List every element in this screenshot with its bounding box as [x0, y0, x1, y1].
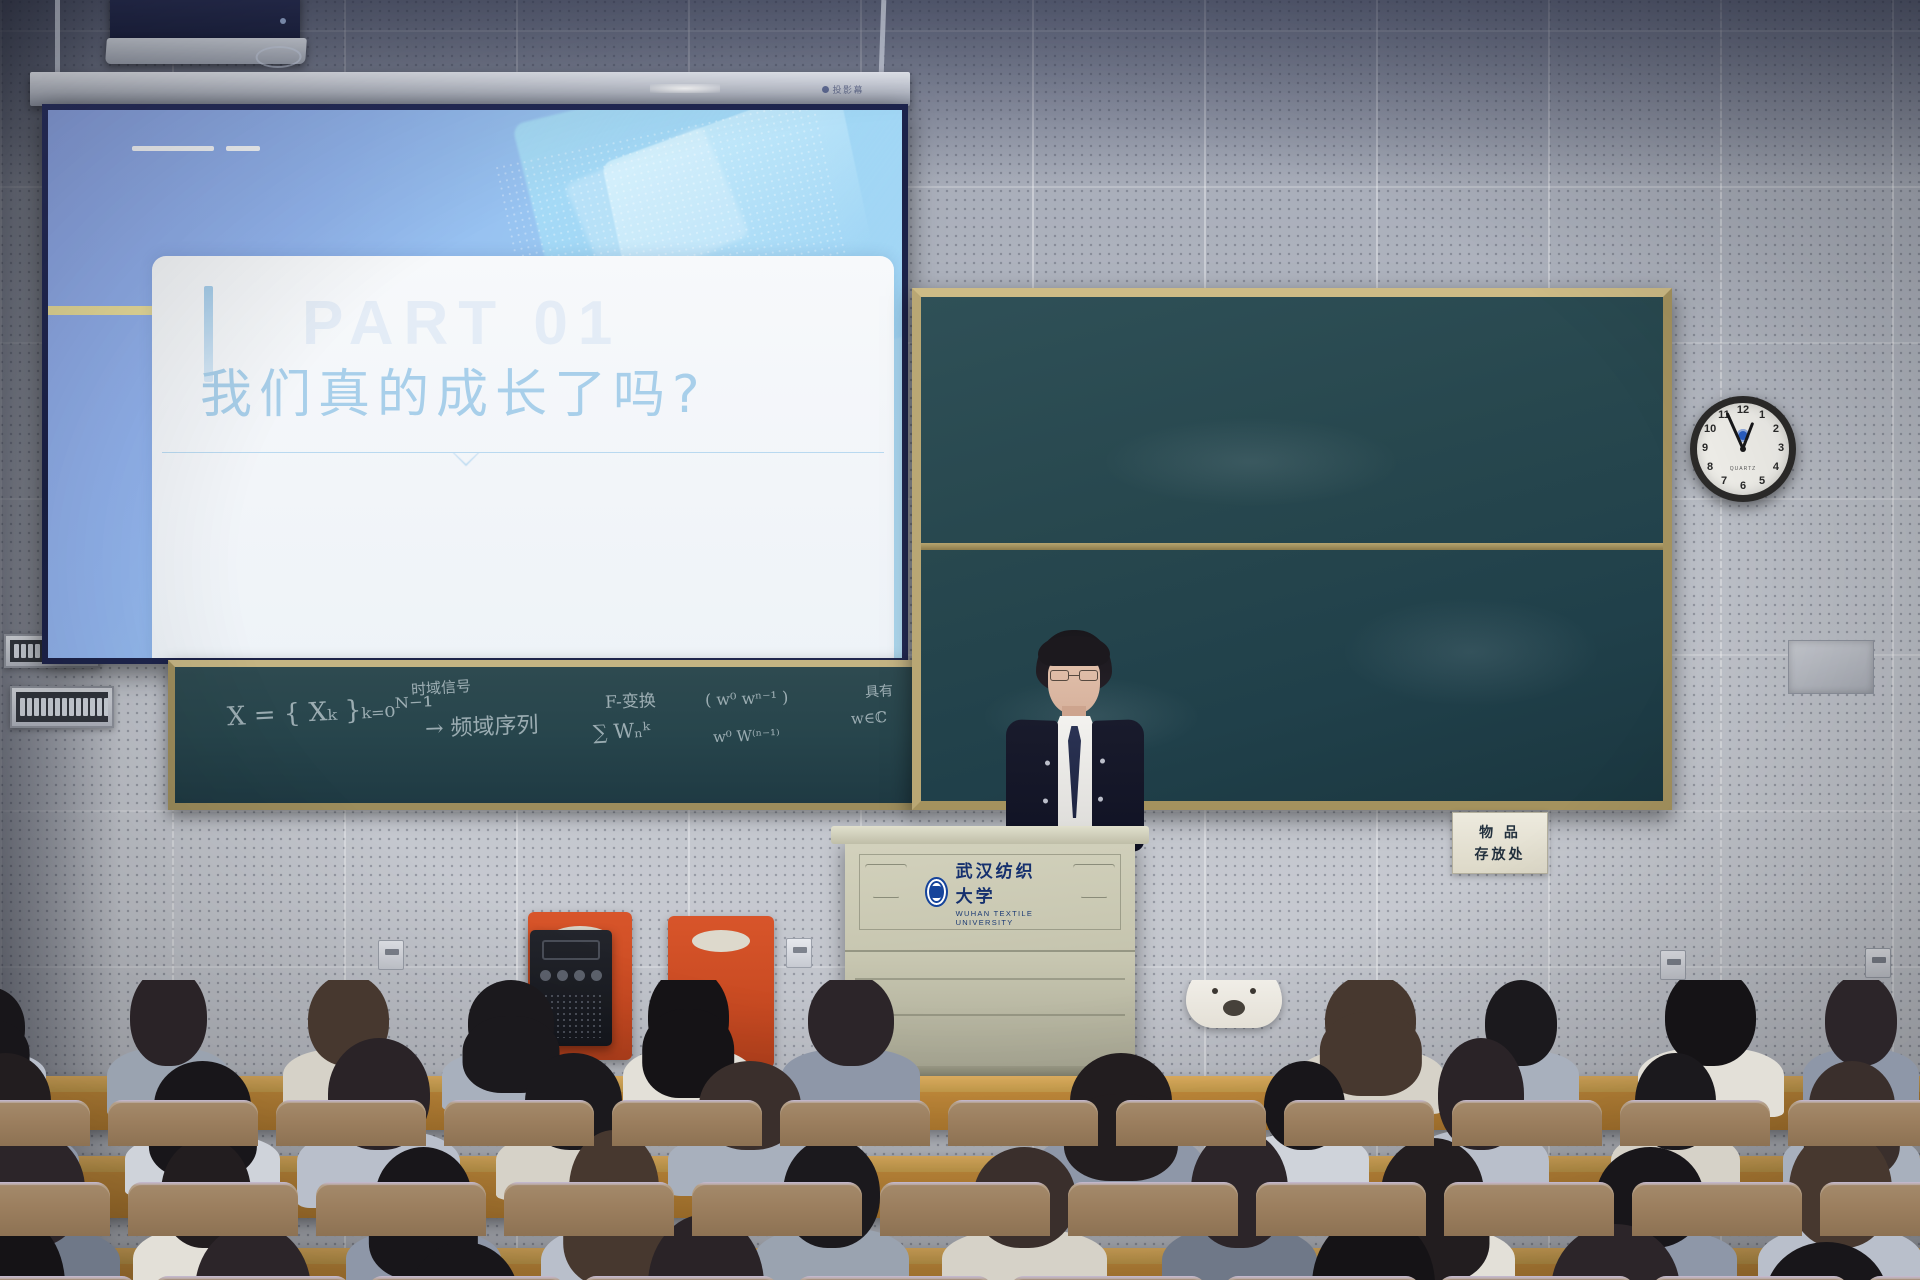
- clock-sub-text: QUARTZ: [1730, 466, 1756, 472]
- seat-back[interactable]: [1224, 1276, 1420, 1280]
- clock-numeral: 8: [1703, 461, 1717, 473]
- clock-numeral: 2: [1769, 423, 1783, 435]
- seat-back[interactable]: [1788, 1100, 1920, 1146]
- clock-numeral: 1: [1755, 409, 1769, 421]
- clock-numeral: 7: [1717, 475, 1731, 487]
- storage-area-sign: 物 品 存放处: [1452, 812, 1548, 874]
- audience-member: [808, 980, 895, 1066]
- breaker-switches-lower: [16, 692, 108, 722]
- sign-line-1: 物 品: [1479, 822, 1521, 842]
- slide-divider-notch-icon: [451, 453, 481, 466]
- chalk-text: 具有: [864, 680, 893, 702]
- chalk-text: F-变换: [605, 686, 657, 713]
- seat-back[interactable]: [1256, 1182, 1426, 1236]
- bear-hat-eye-icon: [1250, 988, 1256, 994]
- seat-back[interactable]: [368, 1276, 564, 1280]
- seat-back[interactable]: [1068, 1182, 1238, 1236]
- bear-hat-ear-left-icon: [1182, 980, 1212, 981]
- chalk-text: ( w⁰ wⁿ⁻¹ ): [705, 688, 789, 710]
- seat-back[interactable]: [504, 1182, 674, 1236]
- clock-numeral: 6: [1736, 480, 1750, 492]
- seat-back[interactable]: [1444, 1182, 1614, 1236]
- wall-clock: QUARTZ 121234567891011: [1690, 396, 1796, 502]
- jacket-button: [1100, 758, 1105, 763]
- clock-numeral: 10: [1703, 423, 1717, 435]
- valance-brand-mark: 投影幕: [822, 83, 864, 96]
- seat-back[interactable]: [316, 1182, 486, 1236]
- audience-member: [468, 980, 555, 1066]
- audience-member: [648, 980, 730, 1066]
- ceiling-projector: [105, 38, 307, 64]
- seat-back[interactable]: [1010, 1276, 1206, 1280]
- university-name-block: 武汉纺织大学 WUHAN TEXTILE UNIVERSITY: [956, 857, 1055, 927]
- brand-dot-icon: [822, 86, 829, 93]
- seat-back[interactable]: [880, 1182, 1050, 1236]
- glasses-icon: [1050, 670, 1098, 681]
- sign-line-2: 存放处: [1475, 844, 1526, 864]
- audience-member: [1825, 980, 1897, 1066]
- projector-status-led: [280, 18, 286, 24]
- chalk-text: w⁰ W⁽ⁿ⁻¹⁾: [713, 726, 780, 746]
- seat-back[interactable]: [780, 1100, 930, 1146]
- audience-member: [130, 980, 207, 1066]
- seat-back[interactable]: [0, 1100, 90, 1146]
- clock-numeral: 9: [1698, 442, 1712, 454]
- seat-back[interactable]: [796, 1276, 992, 1280]
- chalk-equations: X = { Xₖ }ₖ₌₀ᴺ⁻¹→ 频域序列时域信号F-变换∑ Wₙᵏ( w⁰ …: [175, 667, 913, 803]
- wall-socket[interactable]: [1660, 950, 1686, 980]
- bear-hat-eye-icon: [1212, 988, 1218, 994]
- wall-socket[interactable]: [786, 938, 812, 968]
- seat-back[interactable]: [1620, 1100, 1770, 1146]
- university-logo: 武汉纺织大学 WUHAN TEXTILE UNIVERSITY: [925, 857, 1055, 927]
- seat-back[interactable]: [1452, 1100, 1602, 1146]
- wall-socket[interactable]: [1865, 948, 1891, 978]
- jacket-button: [1045, 760, 1050, 765]
- clock-numeral: 4: [1769, 461, 1783, 473]
- clock-numeral: 3: [1774, 442, 1788, 454]
- seat-back[interactable]: [276, 1100, 426, 1146]
- seat-back[interactable]: [1820, 1182, 1920, 1236]
- presenter-fringe: [1038, 636, 1110, 666]
- podium-nameplate: 武汉纺织大学 WUHAN TEXTILE UNIVERSITY: [859, 854, 1121, 930]
- podium-desktop: [831, 826, 1149, 844]
- seat-back[interactable]: [1284, 1100, 1434, 1146]
- seat-back[interactable]: [444, 1100, 594, 1146]
- university-name-en: WUHAN TEXTILE UNIVERSITY: [956, 909, 1055, 927]
- seat-back[interactable]: [1116, 1100, 1266, 1146]
- chalk-smudge: [1101, 417, 1401, 507]
- seat-back[interactable]: [692, 1182, 862, 1236]
- chalk-text: w∈ℂ: [851, 708, 888, 728]
- bear-hat: [1186, 980, 1282, 1028]
- chalk-text: ∑ Wₙᵏ: [592, 718, 650, 745]
- audience-member: [1325, 980, 1416, 1066]
- seat-back[interactable]: [1438, 1276, 1634, 1280]
- slide-divider-rule: [162, 452, 884, 453]
- university-seal-icon: [925, 877, 948, 907]
- lecture-hall-scene: 投影幕 PART 01 我们真的成长了吗? X = { Xₖ }ₖ₌₀ᴺ⁻¹→ …: [0, 0, 1920, 1280]
- clock-numeral: 12: [1736, 404, 1750, 416]
- slide-title: 我们真的成长了吗?: [200, 352, 707, 427]
- projector-mount-bracket: [110, 0, 300, 42]
- slide-dash-marks: [132, 146, 260, 151]
- chalk-text: X = { Xₖ }ₖ₌₀ᴺ⁻¹: [226, 692, 434, 733]
- bear-hat-ear-right-icon: [1256, 980, 1286, 981]
- chalk-text: → 频域序列: [424, 707, 538, 743]
- speaker-handle-icon: [542, 940, 600, 960]
- seat-back[interactable]: [0, 1276, 136, 1280]
- chalk-text: 时域信号: [410, 675, 471, 700]
- blackboard-left: X = { Xₖ }ₖ₌₀ᴺ⁻¹→ 频域序列时域信号F-变换∑ Wₙᵏ( w⁰ …: [168, 660, 920, 810]
- jacket-button: [1098, 797, 1103, 802]
- jacket-button: [1043, 798, 1048, 803]
- bear-hat-snout-icon: [1223, 1000, 1245, 1016]
- wall-access-hatch: [1788, 640, 1874, 694]
- valance-highlight: [650, 84, 720, 93]
- seat-back[interactable]: [0, 1182, 110, 1236]
- seat-back[interactable]: [128, 1182, 298, 1236]
- projection-screen: PART 01 我们真的成长了吗?: [42, 104, 908, 664]
- slide-surface: PART 01 我们真的成长了吗?: [48, 110, 902, 658]
- screen-hanger-left: [55, 0, 60, 76]
- projection-screen-valance: 投影幕: [30, 72, 910, 106]
- seat-back[interactable]: [612, 1100, 762, 1146]
- audience-seating: [0, 980, 1920, 1280]
- slide-content-card: PART 01 我们真的成长了吗?: [152, 256, 894, 658]
- clock-center-pin: [1740, 446, 1746, 452]
- wall-socket[interactable]: [378, 940, 404, 970]
- seat-back[interactable]: [582, 1276, 778, 1280]
- seat-back[interactable]: [1632, 1182, 1802, 1236]
- chalk-smudge: [1341, 597, 1601, 707]
- valance-brand-text: 投影幕: [832, 83, 864, 96]
- university-name-cn: 武汉纺织大学: [956, 857, 1055, 907]
- seat-back[interactable]: [1652, 1276, 1848, 1280]
- slide-part-label: PART 01: [302, 288, 622, 359]
- control-panel-lower[interactable]: [10, 686, 114, 728]
- clock-numeral: 5: [1755, 475, 1769, 487]
- seat-back[interactable]: [948, 1100, 1098, 1146]
- seat-back[interactable]: [154, 1276, 350, 1280]
- seat-back[interactable]: [1866, 1276, 1920, 1280]
- seat-back[interactable]: [108, 1100, 258, 1146]
